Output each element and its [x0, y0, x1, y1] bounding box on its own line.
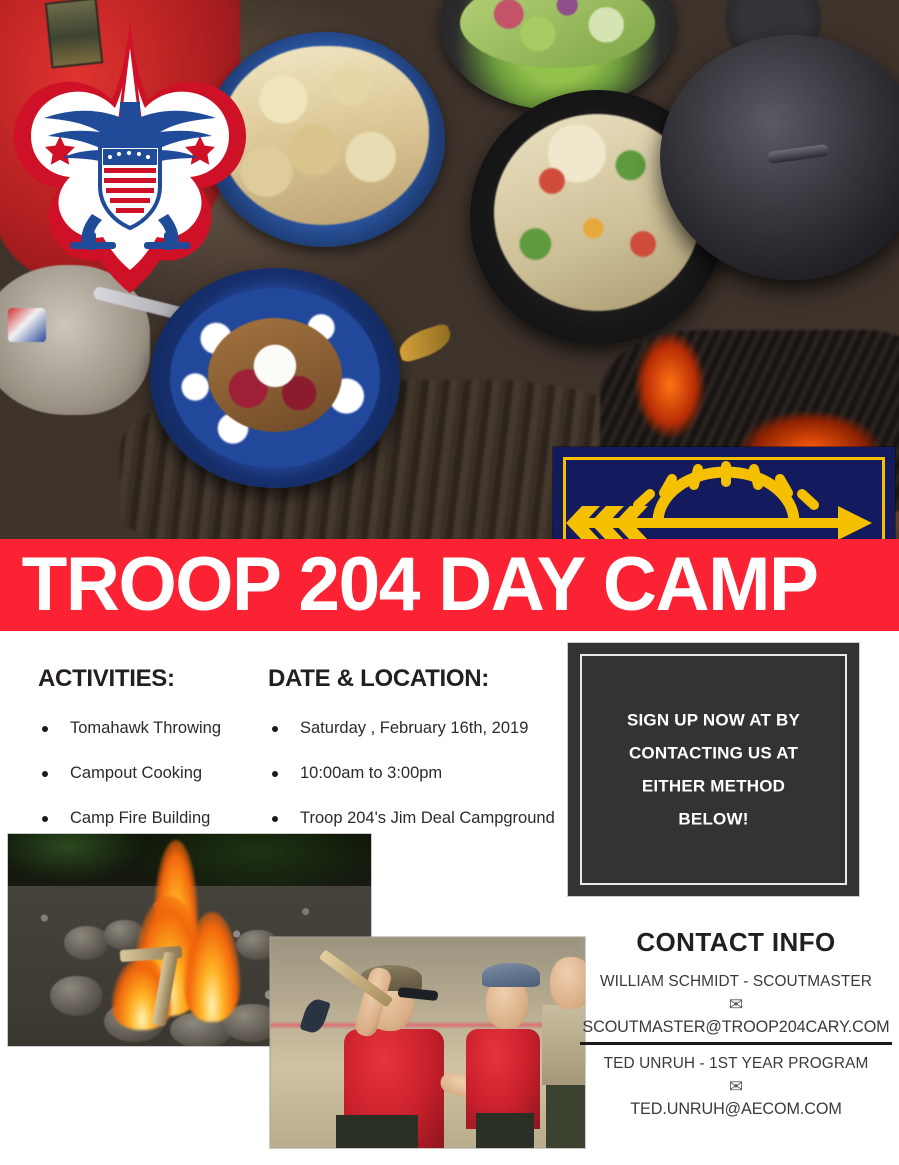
hero-hat-badge — [8, 308, 46, 342]
date-location-section: DATE & LOCATION: Saturday , February 16t… — [268, 665, 568, 854]
date-location-list: Saturday , February 16th, 2019 10:00am t… — [268, 719, 568, 828]
list-item: Saturday , February 16th, 2019 — [268, 719, 568, 738]
envelope-icon: ✉ — [580, 1074, 892, 1100]
signup-line: BELOW! — [594, 803, 833, 836]
arrow-badge-inner-frame — [563, 457, 885, 543]
arrow-sunrise-icon — [566, 460, 882, 540]
bsa-logo — [8, 18, 253, 293]
list-item: Campout Cooking — [38, 764, 253, 783]
campfire-rock — [64, 926, 108, 960]
bsa-fleur-de-lis-icon — [8, 18, 253, 293]
contact-name: TED UNRUH - 1ST YEAR PROGRAM — [580, 1054, 892, 1074]
contact-info-section: CONTACT INFO WILLIAM SCHMIDT - SCOUTMAST… — [580, 927, 892, 1119]
tomahawk-leader-uniform — [542, 1005, 585, 1085]
list-item: Troop 204's Jim Deal Campground — [268, 809, 568, 828]
tomahawk-throwing-photo — [270, 937, 585, 1148]
signup-line: CONTACTING US AT — [594, 736, 833, 769]
signup-text: SIGN UP NOW AT BY CONTACTING US AT EITHE… — [594, 703, 833, 836]
tomahawk-bystander-cap — [482, 963, 540, 987]
contact-heading: CONTACT INFO — [580, 927, 892, 958]
contact-divider — [580, 1042, 892, 1045]
contact-email[interactable]: SCOUTMASTER@TROOP204CARY.COM — [580, 1018, 892, 1037]
signup-line: EITHER METHOD — [594, 770, 833, 803]
signup-line: SIGN UP NOW AT BY — [594, 703, 833, 736]
list-item: 10:00am to 3:00pm — [268, 764, 568, 783]
activities-section: ACTIVITIES: Tomahawk Throwing Campout Co… — [38, 665, 253, 854]
arrow-of-light-badge — [553, 447, 895, 553]
list-item: Tomahawk Throwing — [38, 719, 253, 738]
list-item: Camp Fire Building — [38, 809, 253, 828]
contact-email[interactable]: TED.UNRUH@AECOM.COM — [580, 1100, 892, 1119]
flyer-page: TROOP 204 DAY CAMP ACTIVITIES: Tomahawk … — [0, 0, 899, 1165]
title-banner: TROOP 204 DAY CAMP — [0, 539, 899, 631]
tomahawk-thrower-pants — [336, 1115, 418, 1148]
date-location-heading: DATE & LOCATION: — [268, 665, 568, 693]
tomahawk-bystander-pants — [476, 1113, 534, 1148]
activities-heading: ACTIVITIES: — [38, 665, 253, 693]
campfire-rock — [50, 976, 102, 1016]
activities-list: Tomahawk Throwing Campout Cooking Camp F… — [38, 719, 253, 828]
envelope-icon: ✉ — [580, 992, 892, 1018]
signup-callout-box: SIGN UP NOW AT BY CONTACTING US AT EITHE… — [568, 643, 859, 896]
hero-cobbler-bowl — [150, 268, 400, 488]
page-title: TROOP 204 DAY CAMP — [0, 547, 817, 623]
contact-name: WILLIAM SCHMIDT - SCOUTMASTER — [580, 972, 892, 992]
